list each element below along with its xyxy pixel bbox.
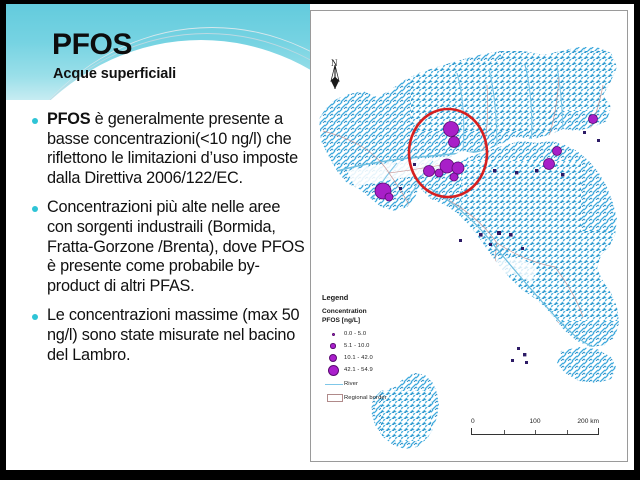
scalebar-labels: 0 100 200 km bbox=[471, 418, 599, 428]
list-item: Le concentrazioni massime (max 50 ng/l) … bbox=[28, 306, 308, 365]
legend-item-label: Regional border bbox=[344, 395, 387, 401]
map-panel: N Legend Concentration PFOS [ng/L] 0.0 -… bbox=[310, 10, 628, 462]
legend-class-list: 0.0 - 5.0 5.1 - 10.0 10.1 - 42.0 42.1 - … bbox=[322, 328, 428, 376]
map-legend: Legend Concentration PFOS [ng/L] 0.0 - 5… bbox=[322, 293, 428, 404]
legend-swatch bbox=[322, 333, 344, 336]
bullet-text: Concentrazioni più alte nelle aree con s… bbox=[47, 198, 308, 296]
bullet-text: PFOS è generalmente presente a basse con… bbox=[47, 110, 308, 188]
north-arrow-icon bbox=[331, 65, 339, 89]
map-region-sicily bbox=[551, 341, 627, 389]
legend-item-label: 10.1 - 42.0 bbox=[344, 355, 373, 361]
legend-item-label: 0.0 - 5.0 bbox=[344, 331, 366, 337]
legend-swatch bbox=[322, 365, 344, 376]
bullet-list: PFOS è generalmente presente a basse con… bbox=[28, 110, 308, 375]
page-subtitle: Acque superficiali bbox=[53, 66, 176, 82]
legend-item: 42.1 - 54.9 bbox=[322, 364, 428, 376]
bullet-body: Le concentrazioni massime (max 50 ng/l) … bbox=[47, 306, 299, 363]
regional-border-icon bbox=[322, 394, 344, 402]
bullet-dot-icon bbox=[32, 206, 38, 212]
list-item: Concentrazioni più alte nelle aree con s… bbox=[28, 198, 308, 296]
legend-item-border: Regional border bbox=[322, 392, 428, 404]
map-canvas: N Legend Concentration PFOS [ng/L] 0.0 -… bbox=[311, 11, 627, 461]
legend-swatch bbox=[322, 354, 344, 362]
bullet-dot-icon bbox=[32, 314, 38, 320]
legend-item: 10.1 - 42.0 bbox=[322, 352, 428, 364]
scalebar-tick-1: 100 bbox=[529, 418, 540, 425]
slide: PFOS Acque superficiali PFOS è generalme… bbox=[6, 4, 634, 470]
scalebar-ruler bbox=[471, 428, 599, 435]
legend-item-label: River bbox=[344, 381, 358, 387]
list-item: PFOS è generalmente presente a basse con… bbox=[28, 110, 308, 188]
legend-item-label: 42.1 - 54.9 bbox=[344, 367, 373, 373]
bullet-text: Le concentrazioni massime (max 50 ng/l) … bbox=[47, 306, 308, 365]
scalebar-tick-2: 200 km bbox=[577, 418, 599, 425]
legend-swatch bbox=[322, 343, 344, 349]
river-line-icon bbox=[322, 384, 344, 385]
legend-item-label: 5.1 - 10.0 bbox=[344, 343, 370, 349]
map-scalebar: 0 100 200 km bbox=[471, 418, 599, 435]
scalebar-tick-0: 0 bbox=[471, 418, 475, 425]
legend-subtitle-units: PFOS [ng/L] bbox=[322, 316, 428, 325]
legend-item: 0.0 - 5.0 bbox=[322, 328, 428, 340]
legend-item: 5.1 - 10.0 bbox=[322, 340, 428, 352]
page-title: PFOS bbox=[52, 28, 132, 62]
north-arrow-label: N bbox=[331, 58, 338, 68]
legend-item-river: River bbox=[322, 378, 428, 390]
legend-title: Legend bbox=[322, 293, 428, 302]
bullet-dot-icon bbox=[32, 118, 38, 124]
bullet-lead: PFOS bbox=[47, 110, 90, 128]
bullet-body: Concentrazioni più alte nelle aree con s… bbox=[47, 198, 305, 294]
legend-subtitle-concentration: Concentration bbox=[322, 307, 428, 316]
